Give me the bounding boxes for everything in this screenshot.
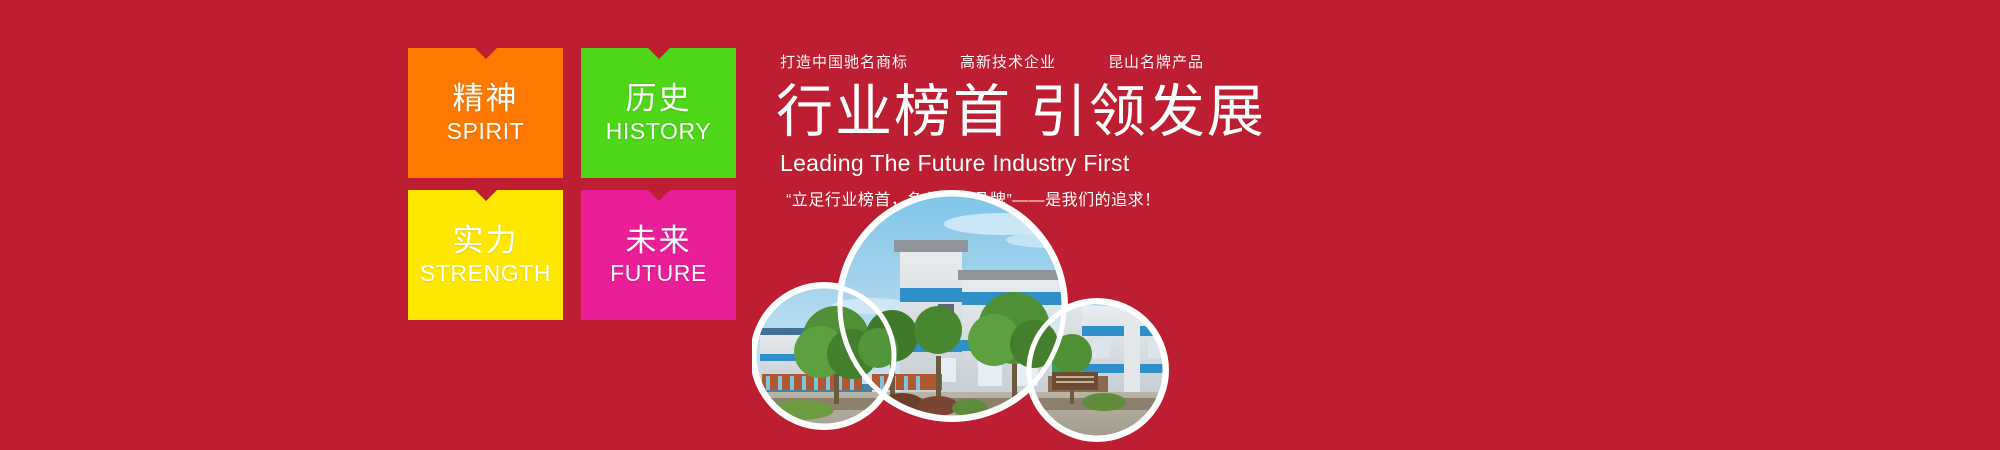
tile-label-en: STRENGTH <box>420 260 551 286</box>
tile-spirit[interactable]: 精神 SPIRIT <box>408 48 563 178</box>
factory-photo-cloud <box>752 188 1172 450</box>
eyebrow-item-2: 昆山名牌产品 <box>1108 51 1204 72</box>
tile-future[interactable]: 未来 FUTURE <box>581 190 736 320</box>
eyebrow-row: 打造中国驰名商标 高新技术企业 昆山名牌产品 <box>778 48 1478 74</box>
tile-label-cn: 精神 <box>453 82 519 115</box>
tile-strength[interactable]: 实力 STRENGTH <box>408 190 563 320</box>
eyebrow-item-0: 打造中国驰名商标 <box>780 51 908 72</box>
tile-label-cn: 历史 <box>626 82 692 115</box>
tile-label-cn: 未来 <box>626 224 692 257</box>
tile-notch-icon <box>648 190 670 201</box>
page-subtitle: Leading The Future Industry First <box>780 150 1478 178</box>
banner-root: 精神 SPIRIT 历史 HISTORY 实力 STRENGTH 未来 FUTU… <box>0 0 2000 450</box>
tile-label-en: HISTORY <box>606 118 712 144</box>
eyebrow-item-1: 高新技术企业 <box>960 51 1056 72</box>
tile-notch-icon <box>475 48 497 59</box>
tile-label-cn: 实力 <box>453 224 519 257</box>
tile-notch-icon <box>648 48 670 59</box>
factory-photo-svg <box>752 188 1172 450</box>
tile-notch-icon <box>475 190 497 201</box>
tile-label-en: SPIRIT <box>447 118 525 144</box>
feature-tile-grid: 精神 SPIRIT 历史 HISTORY 实力 STRENGTH 未来 FUTU… <box>408 48 728 320</box>
page-title: 行业榜首 引领发展 <box>776 82 1478 144</box>
photo-content <box>752 188 1172 450</box>
tile-history[interactable]: 历史 HISTORY <box>581 48 736 178</box>
tile-label-en: FUTURE <box>610 260 707 286</box>
